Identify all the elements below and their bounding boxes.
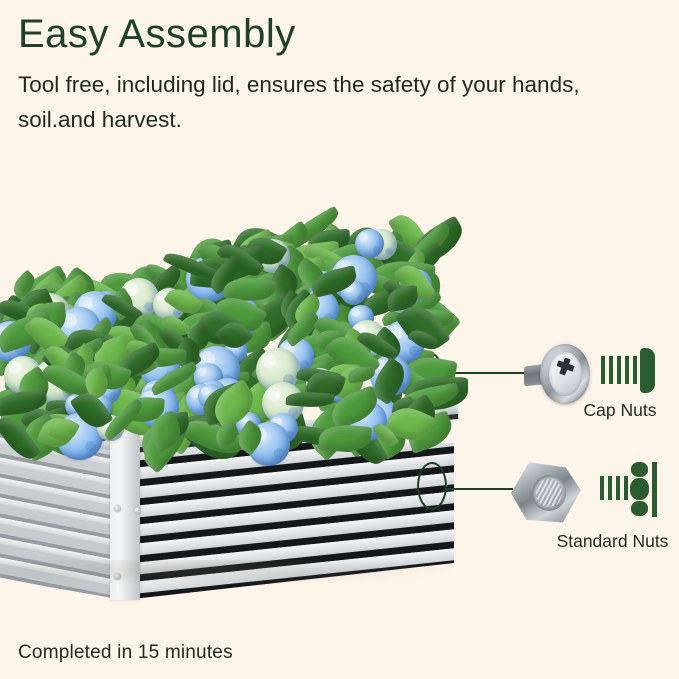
screw-head-icon [114,505,121,512]
callout-leader-line [445,488,513,490]
hydrangea-bloom [355,229,384,258]
completion-time-note: Completed in 15 minutes [18,642,233,664]
hydrangea-plants [0,180,410,430]
page-title: Easy Assembly [18,12,296,56]
infographic-canvas: Easy Assembly Tool free, including lid, … [0,0,679,679]
callout-label-standard-nuts: Standard Nuts [545,531,679,552]
ground-shadow [0,560,460,586]
cap-nut-icon [524,341,590,407]
standard-nut-diagram-icon [600,462,662,518]
callout-circle-icon [417,462,447,510]
page-subtitle: Tool free, including lid, ensures the sa… [18,68,628,138]
screw-head-icon [134,507,141,514]
callout-label-cap-nuts: Cap Nuts [560,400,679,421]
cap-nut-diagram-icon [601,348,657,394]
hex-nut-icon [511,461,581,525]
